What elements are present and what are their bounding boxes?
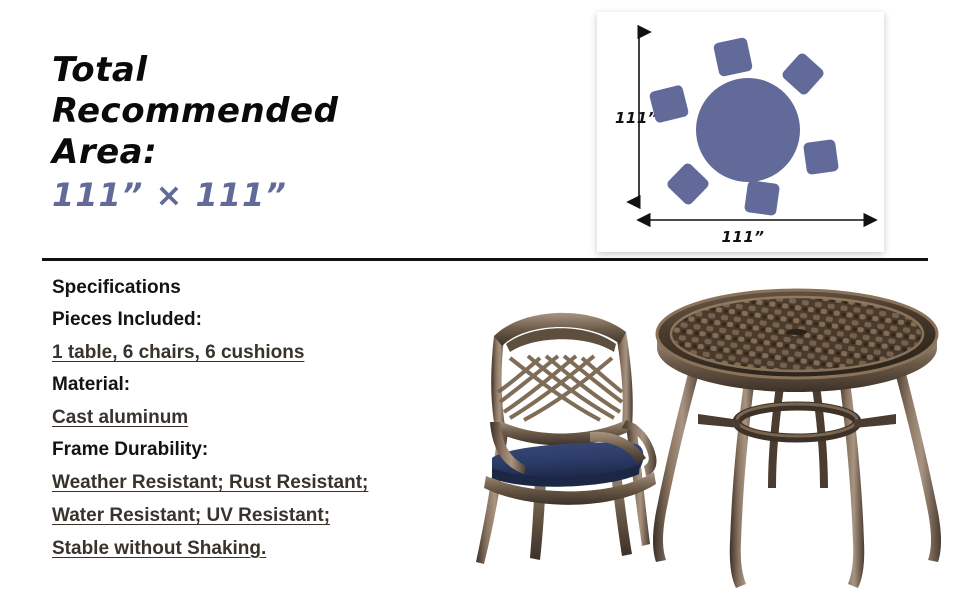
layout-diagram-panel: 111” 111” xyxy=(597,12,884,252)
horizontal-dimension-label: 111” xyxy=(722,228,765,246)
section-divider xyxy=(42,258,928,261)
headline-line-2: Recommended xyxy=(52,91,452,132)
chair-shape-1 xyxy=(713,37,753,77)
table-shape xyxy=(696,78,800,182)
spec-value-frame-durability-line-1: Weather Resistant; Rust Resistant; xyxy=(52,466,462,499)
spec-label-frame-durability: Frame Durability: xyxy=(52,434,462,466)
specifications-heading: Specifications xyxy=(52,272,462,304)
spec-value-frame-durability-line-3: Stable without Shaking. xyxy=(52,532,462,565)
headline-line-1: Total xyxy=(52,50,452,91)
total-area-dimensions: 111” × 111” xyxy=(52,175,452,215)
product-spec-page: Total Recommended Area: 111” × 111” xyxy=(0,0,970,600)
chair-shape-2 xyxy=(780,51,825,96)
spec-value-material: Cast aluminum xyxy=(52,401,462,434)
spec-label-material: Material: xyxy=(52,369,462,401)
spec-label-pieces-included: Pieces Included: xyxy=(52,304,462,336)
chair-shape-5 xyxy=(665,161,710,206)
product-images-svg xyxy=(440,262,970,600)
chair-shape-4 xyxy=(744,180,780,216)
dining-chair-image xyxy=(476,313,657,564)
product-image-area xyxy=(440,262,970,600)
spec-value-pieces-included: 1 table, 6 chairs, 6 cushions xyxy=(52,336,462,369)
spec-value-frame-durability-line-2: Water Resistant; UV Resistant; xyxy=(52,499,462,532)
headline-line-3: Area: xyxy=(52,132,452,173)
layout-diagram-svg: 111” 111” xyxy=(597,12,884,252)
specifications-block: Specifications Pieces Included: 1 table,… xyxy=(52,272,462,565)
chair-shape-3 xyxy=(803,139,839,175)
dining-table-image xyxy=(653,290,941,588)
headline-block: Total Recommended Area: 111” × 111” xyxy=(52,50,452,215)
vertical-dimension-label: 111” xyxy=(615,109,658,127)
